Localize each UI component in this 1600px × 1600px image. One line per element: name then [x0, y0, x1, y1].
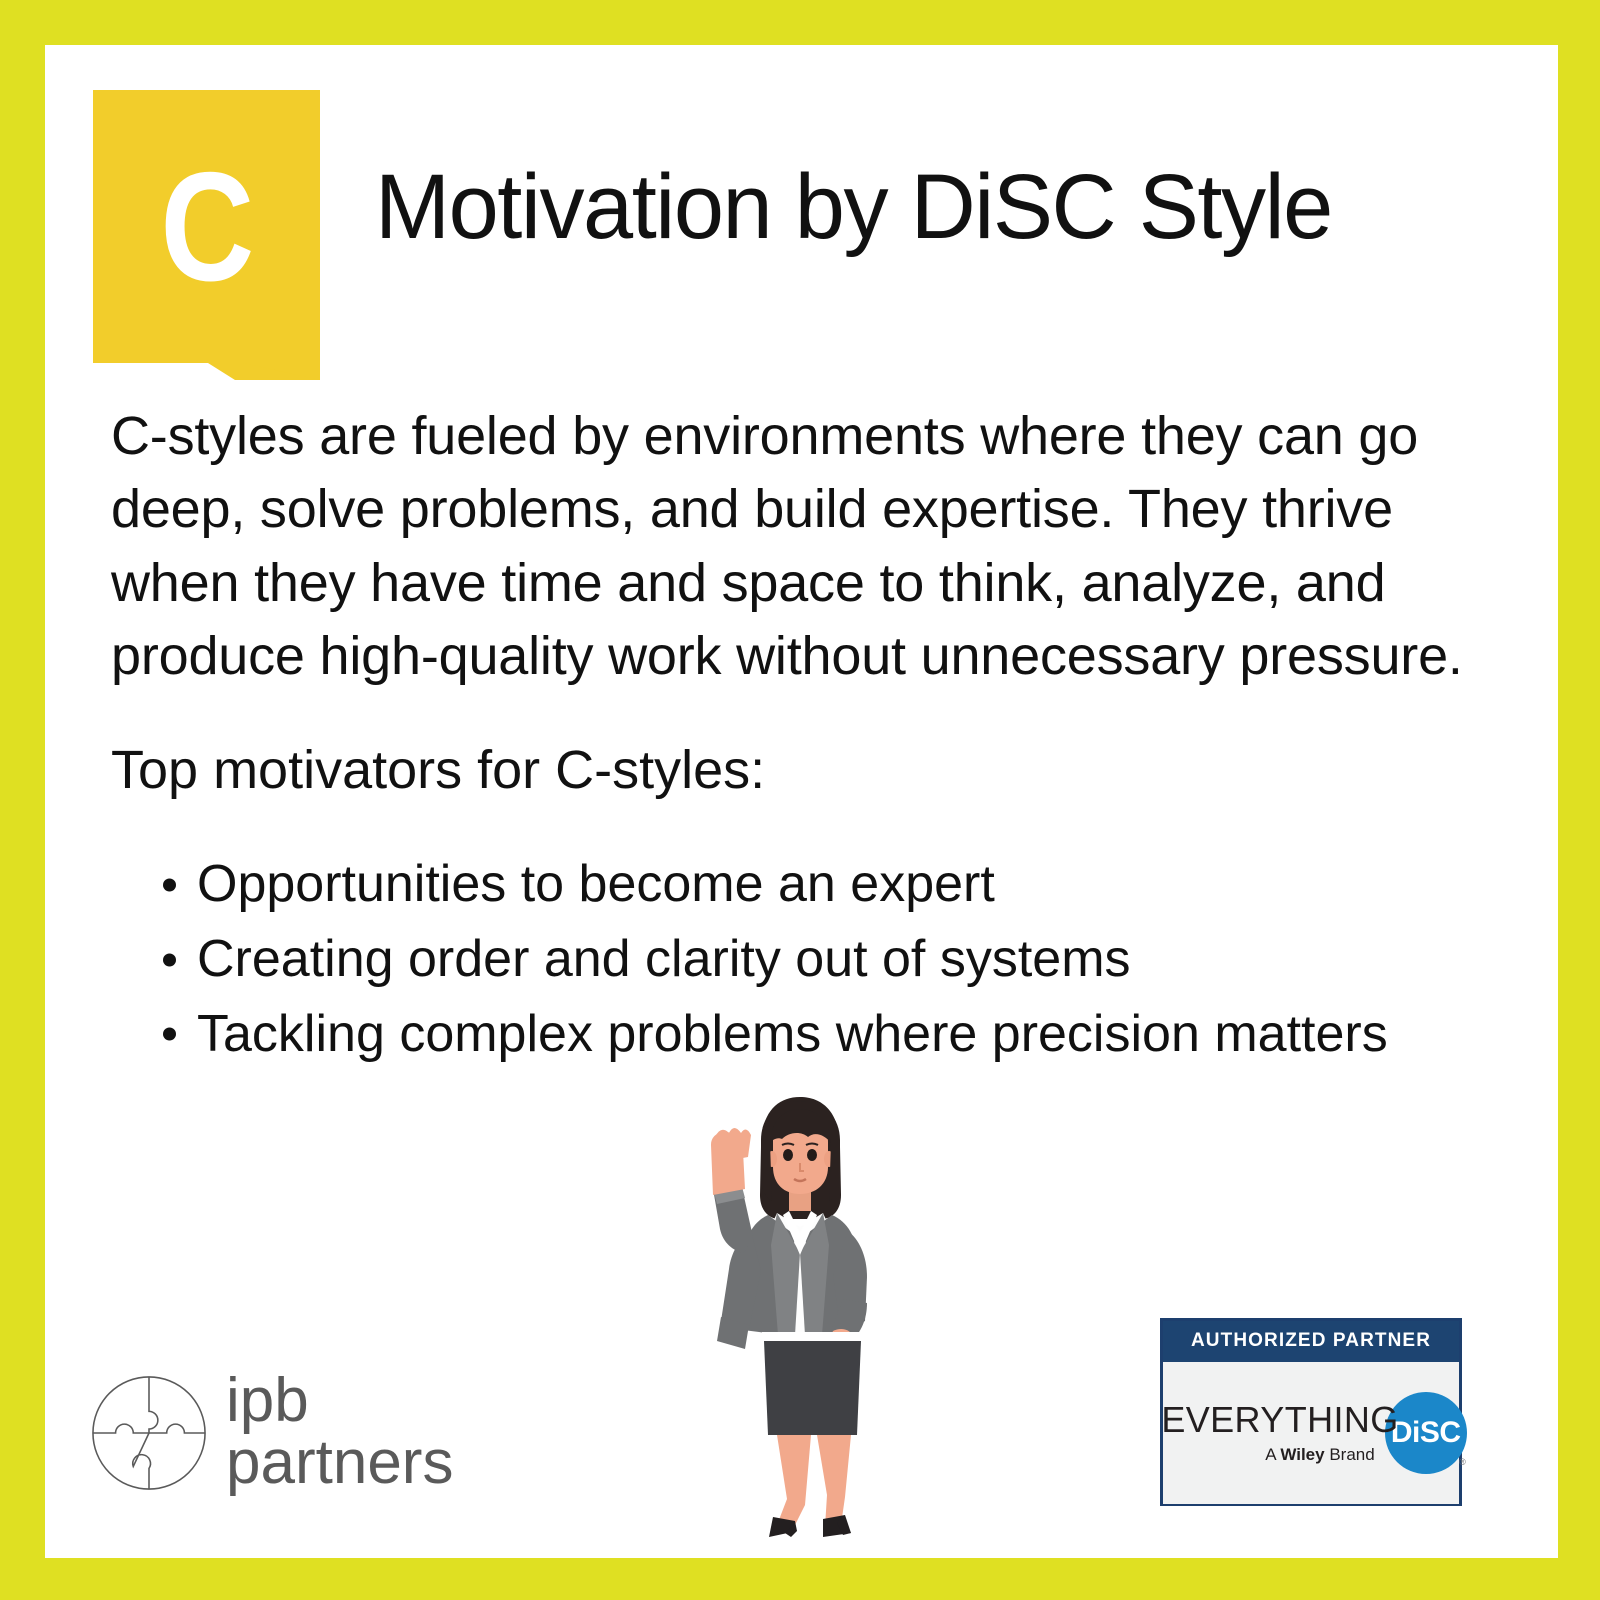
authorized-partner-badge: AUTHORIZED PARTNER EVERYTHING A Wiley Br… — [1160, 1318, 1462, 1506]
everything-disc-text: EVERYTHING A Wiley Brand — [1161, 1402, 1398, 1465]
poster-header: C Motivation by DiSC Style — [45, 45, 1558, 385]
list-item-label: Creating order and clarity out of system… — [197, 930, 1131, 988]
body-copy: C-styles are fueled by environments wher… — [111, 400, 1501, 1072]
intro-paragraph: C-styles are fueled by environments wher… — [111, 400, 1501, 694]
ipb-wordmark-line2: partners — [226, 1431, 453, 1494]
bullet-icon — [163, 878, 176, 891]
wiley-prefix: A — [1265, 1445, 1280, 1464]
list-item: Creating order and clarity out of system… — [163, 922, 1501, 997]
list-item: Tackling complex problems where precisio… — [163, 997, 1501, 1072]
everything-disc-lockup: EVERYTHING A Wiley Brand DiSC ® — [1161, 1392, 1466, 1474]
motivators-list: Opportunities to become an expert Creati… — [111, 847, 1501, 1072]
puzzle-circle-icon — [90, 1374, 208, 1492]
bullet-icon — [163, 953, 176, 966]
disc-style-badge: C — [93, 90, 320, 380]
motivators-lead: Top motivators for C-styles: — [111, 734, 1501, 807]
poster-frame: C Motivation by DiSC Style C-styles are … — [0, 0, 1600, 1600]
everything-disc-logo: EVERYTHING A Wiley Brand DiSC ® — [1163, 1362, 1459, 1504]
businesswoman-waving-icon — [665, 1085, 935, 1550]
disc-wordmark: DiSC — [1391, 1416, 1461, 1450]
page-title: Motivation by DiSC Style — [375, 155, 1332, 260]
bullet-icon — [163, 1028, 176, 1041]
ipb-partners-logo: ipb partners — [90, 1345, 450, 1520]
list-item-label: Tackling complex problems where precisio… — [197, 1005, 1388, 1063]
list-item: Opportunities to become an expert — [163, 847, 1501, 922]
ipb-wordmark: ipb partners — [226, 1371, 453, 1494]
poster-canvas: C Motivation by DiSC Style C-styles are … — [45, 45, 1558, 1558]
style-letter: C — [111, 90, 302, 363]
ipb-wordmark-line1: ipb — [226, 1371, 453, 1431]
businesswoman-illustration — [665, 1085, 935, 1550]
wiley-brand-line: A Wiley Brand — [1265, 1445, 1374, 1465]
wiley-suffix: Brand — [1325, 1445, 1375, 1464]
list-item-label: Opportunities to become an expert — [197, 855, 995, 913]
authorized-partner-label: AUTHORIZED PARTNER — [1163, 1321, 1459, 1362]
registered-mark: ® — [1459, 1457, 1466, 1467]
wiley-bold: Wiley — [1280, 1445, 1324, 1464]
everything-wordmark: EVERYTHING — [1161, 1402, 1398, 1438]
